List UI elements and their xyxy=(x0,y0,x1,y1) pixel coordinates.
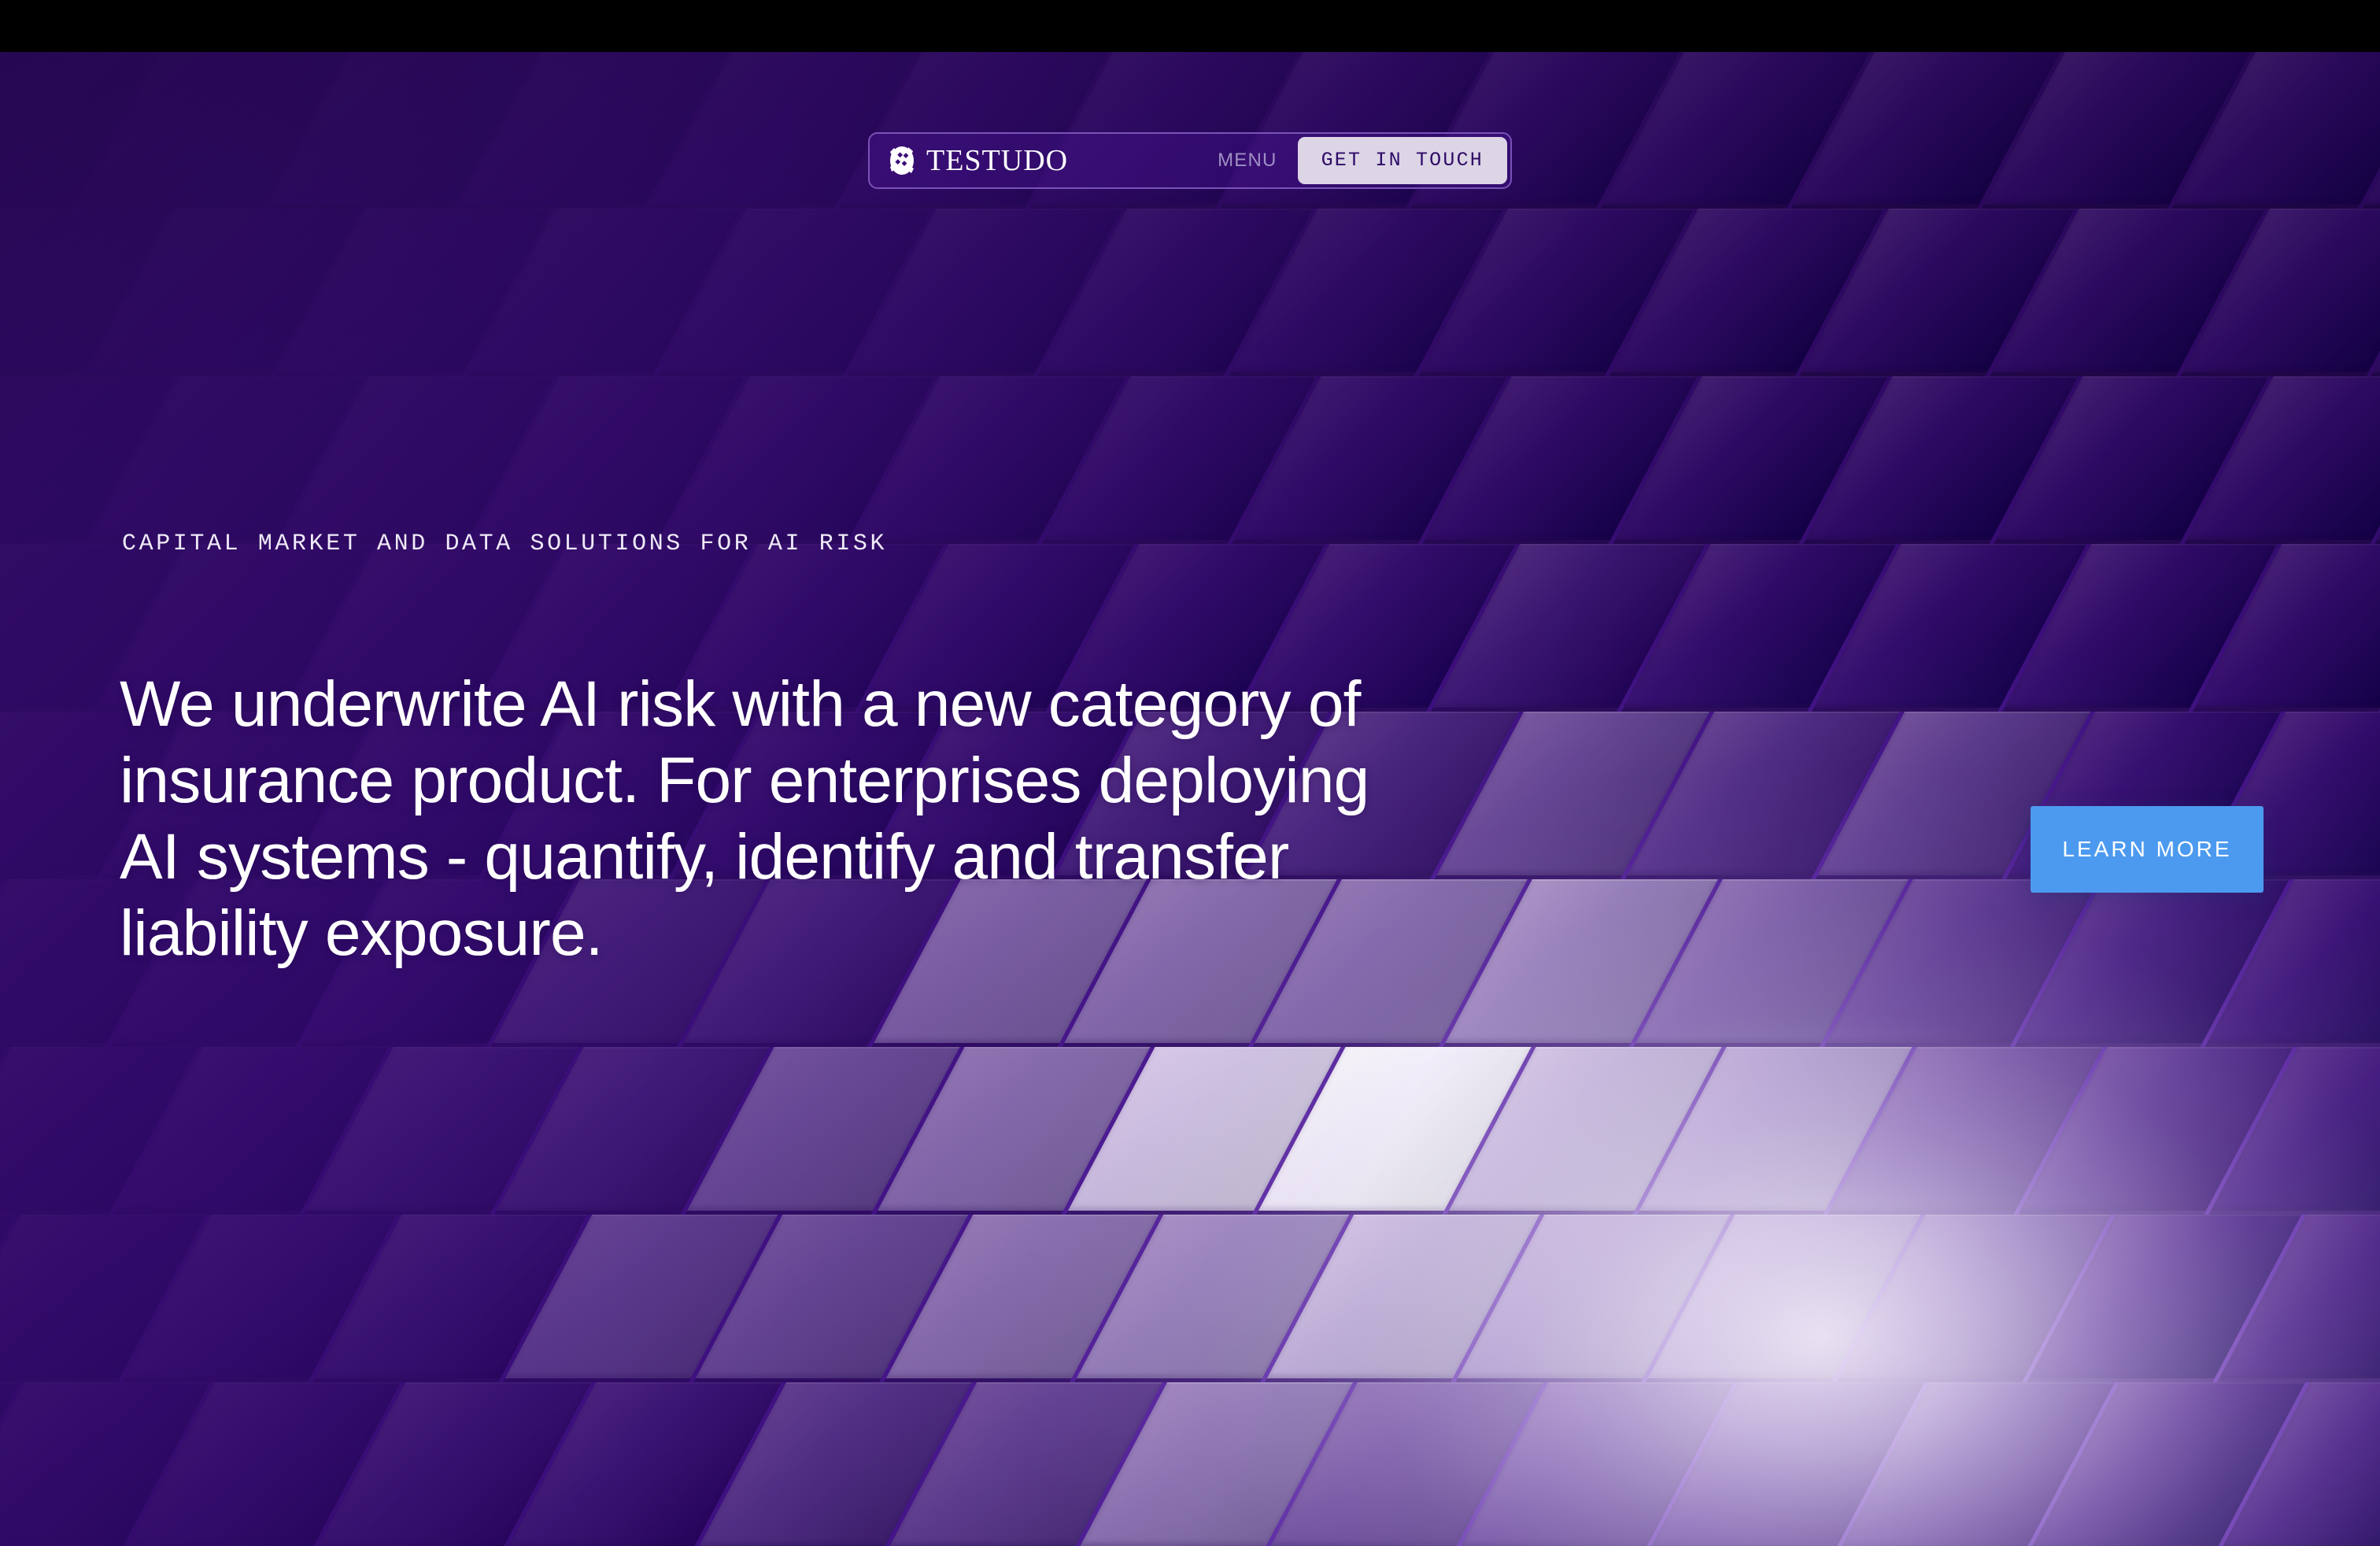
letterbox-bar-top xyxy=(0,0,2380,52)
menu-button[interactable]: MENU xyxy=(1218,150,1277,172)
get-in-touch-button[interactable]: GET IN TOUCH xyxy=(1298,137,1507,184)
hero-headline: We underwrite AI risk with a new categor… xyxy=(120,666,1410,972)
brand-wordmark: TESTUDO xyxy=(926,146,1068,176)
hero-section: TESTUDO MENU GET IN TOUCH CAPITAL MARKET… xyxy=(0,52,2380,1546)
brand-logo[interactable]: TESTUDO xyxy=(889,146,1068,176)
hero-eyebrow: CAPITAL MARKET AND DATA SOLUTIONS FOR AI… xyxy=(122,531,887,557)
nav-actions: MENU GET IN TOUCH xyxy=(1218,137,1510,184)
testudo-shell-icon xyxy=(889,146,915,176)
learn-more-button[interactable]: LEARN MORE xyxy=(2031,806,2264,893)
header-nav-pill: TESTUDO MENU GET IN TOUCH xyxy=(868,132,1512,189)
page-root: TESTUDO MENU GET IN TOUCH CAPITAL MARKET… xyxy=(0,0,2380,1546)
